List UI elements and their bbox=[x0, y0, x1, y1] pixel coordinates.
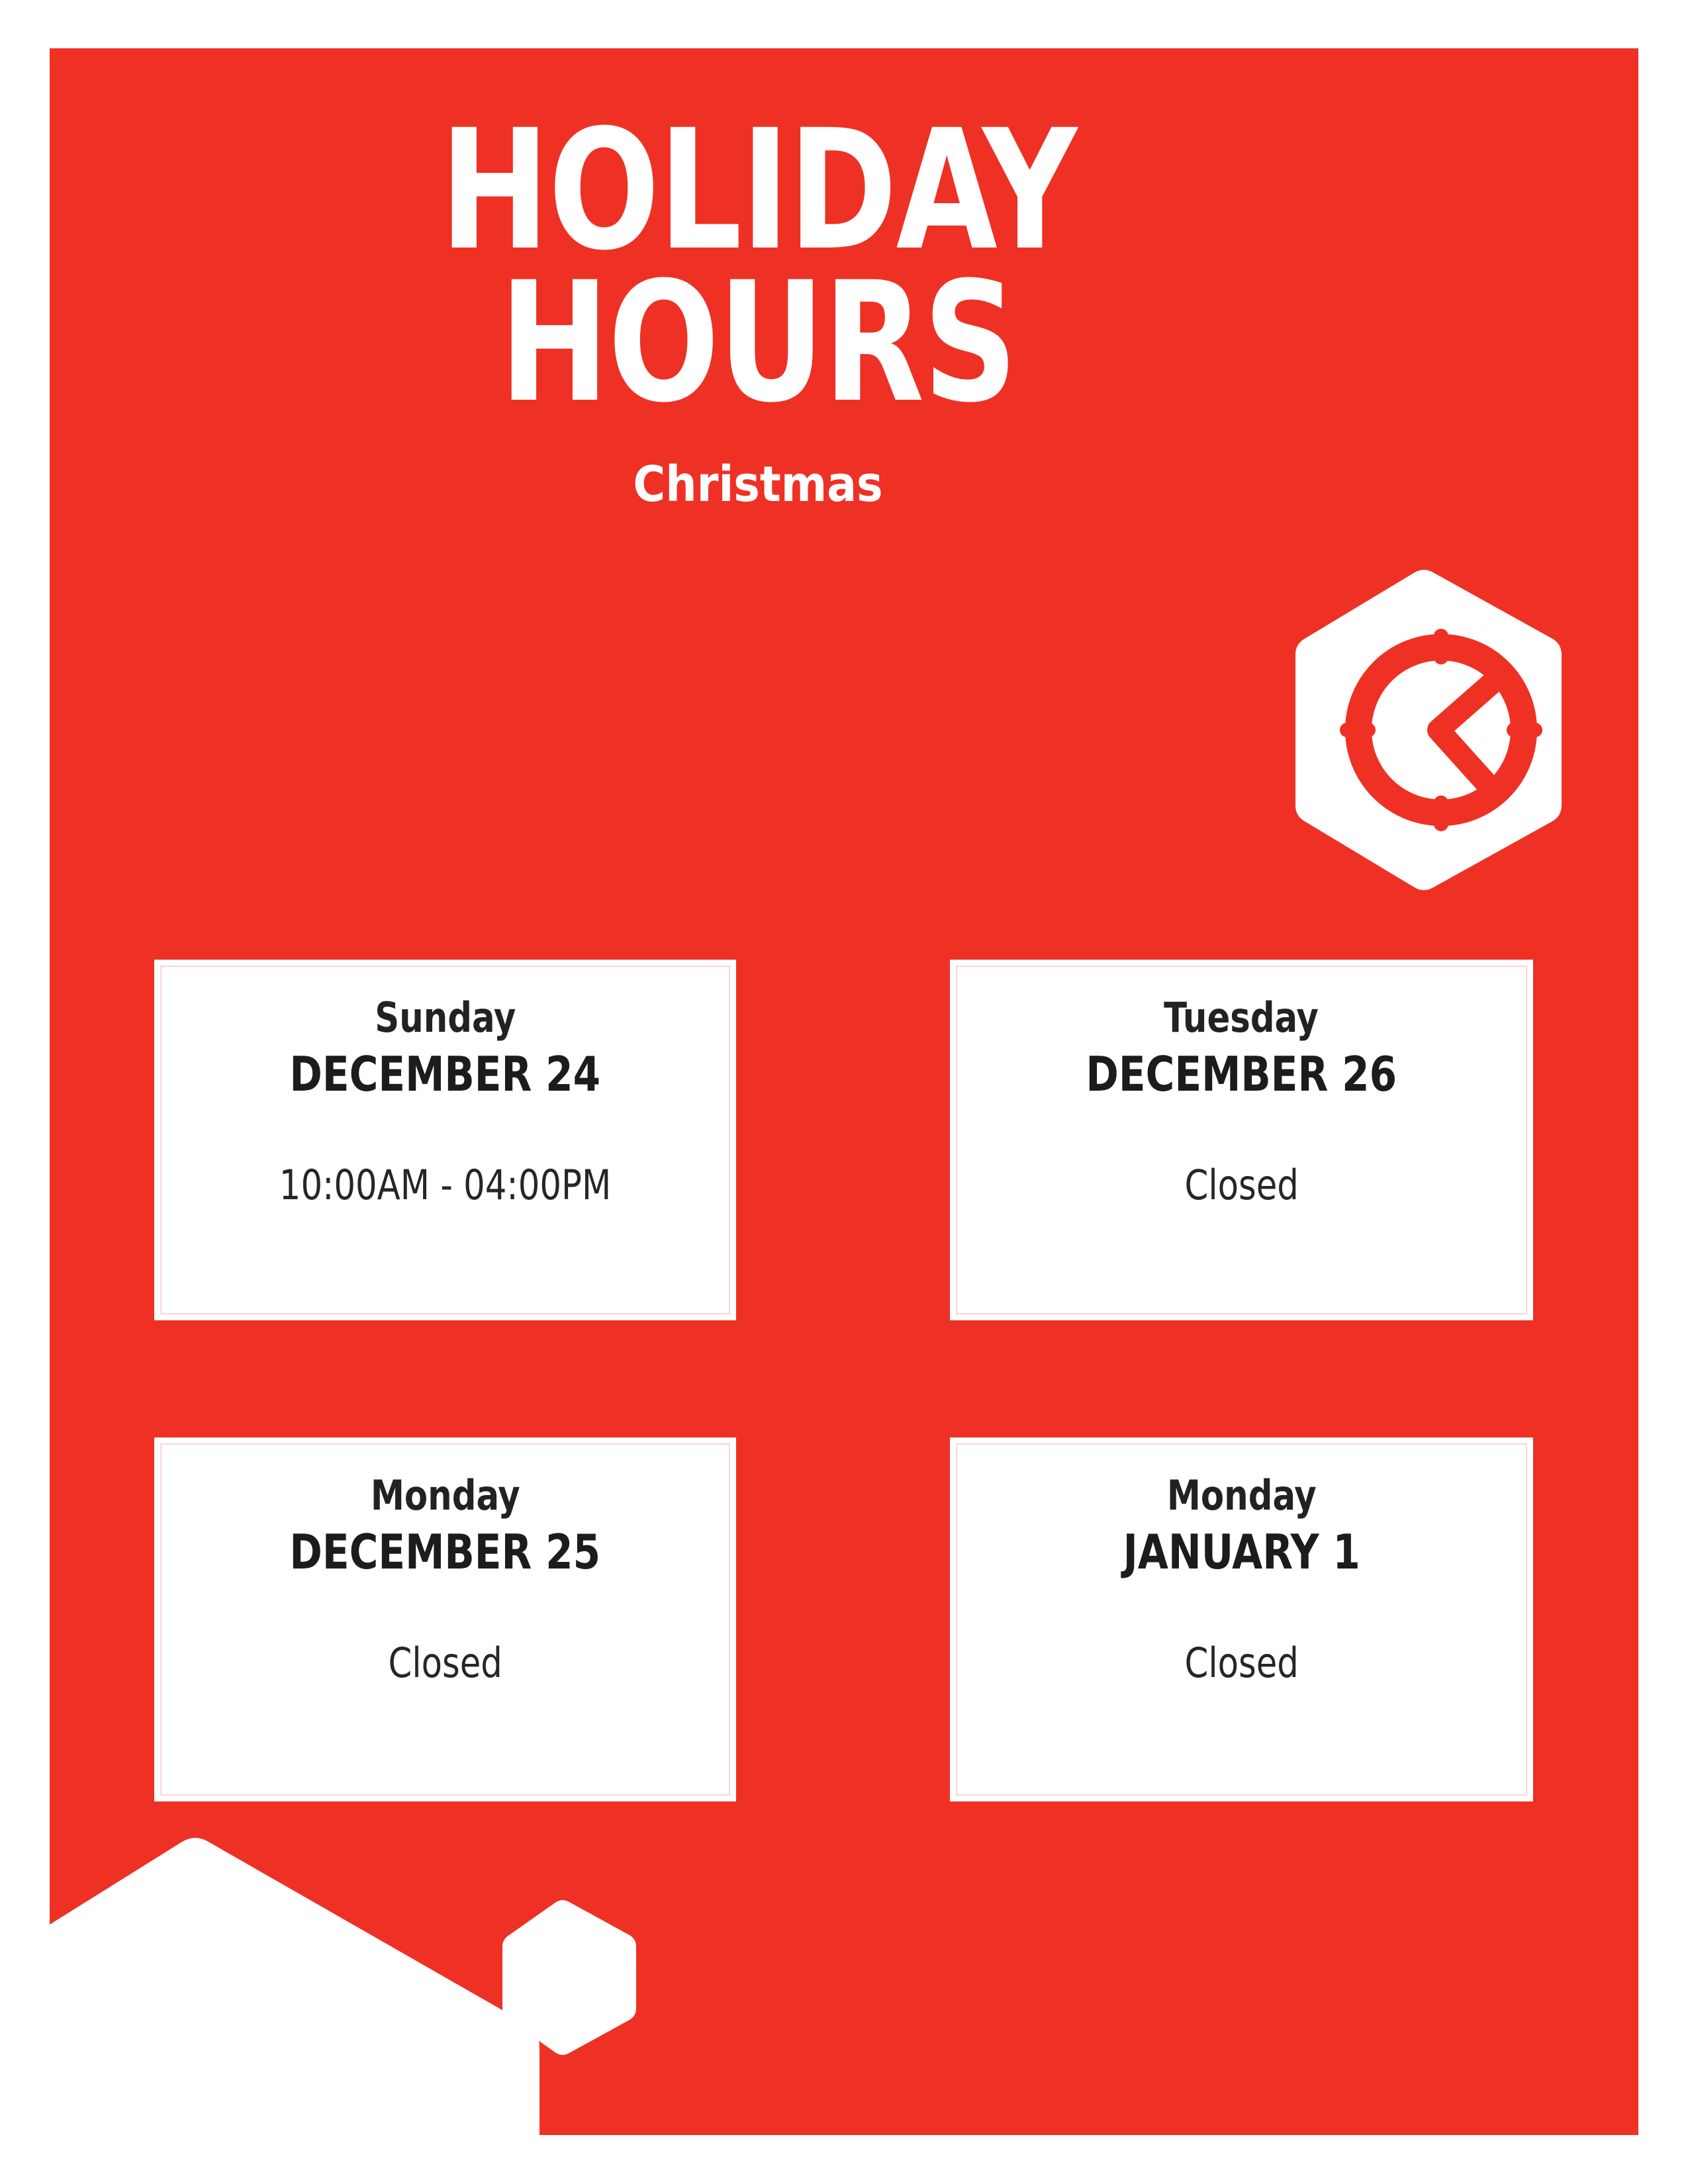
hexagon-decoration-small-icon bbox=[500, 1898, 639, 2057]
schedule-card-inner: Sunday DECEMBER 24 10:00AM - 04:00PM bbox=[160, 966, 730, 1314]
schedule-card: Tuesday DECEMBER 26 Closed bbox=[950, 960, 1533, 1320]
schedule-card: Monday JANUARY 1 Closed bbox=[950, 1437, 1533, 1801]
schedule-card-hours: Closed bbox=[388, 1641, 502, 1684]
title-block: HOLIDAY HOURS Christmas bbox=[268, 114, 1248, 509]
poster-header: HOLIDAY HOURS Christmas bbox=[50, 48, 1638, 710]
schedule-card-date: JANUARY 1 bbox=[1123, 1527, 1360, 1578]
hexagon-decoration-large-icon bbox=[50, 1829, 553, 2135]
schedule-card-date: DECEMBER 25 bbox=[290, 1527, 601, 1578]
page-subtitle: Christmas bbox=[268, 460, 1248, 509]
schedule-card: Monday DECEMBER 25 Closed bbox=[154, 1437, 736, 1801]
page-title-line-1: HOLIDAY bbox=[327, 114, 1189, 267]
schedule-card-hours: 10:00AM - 04:00PM bbox=[279, 1163, 611, 1206]
schedule-card: Sunday DECEMBER 24 10:00AM - 04:00PM bbox=[154, 960, 736, 1320]
schedule-card-inner: Monday DECEMBER 25 Closed bbox=[160, 1443, 730, 1796]
schedule-card-day: Monday bbox=[371, 1474, 520, 1517]
schedule-card-hours: Closed bbox=[1184, 1641, 1298, 1684]
schedule-card-day: Tuesday bbox=[1164, 996, 1319, 1039]
schedule-card-day: Monday bbox=[1167, 1474, 1317, 1517]
schedule-card-day: Sunday bbox=[375, 996, 516, 1039]
clock-hexagon-icon bbox=[1294, 565, 1572, 895]
page-title-line-2: HOURS bbox=[327, 267, 1189, 419]
schedule-card-inner: Monday JANUARY 1 Closed bbox=[956, 1443, 1527, 1796]
schedule-card-date: DECEMBER 24 bbox=[290, 1050, 601, 1100]
schedule-card-hours: Closed bbox=[1184, 1163, 1298, 1206]
holiday-hours-poster: HOLIDAY HOURS Christmas Sunday D bbox=[50, 48, 1638, 2135]
schedule-card-date: DECEMBER 26 bbox=[1086, 1050, 1397, 1100]
schedule-card-inner: Tuesday DECEMBER 26 Closed bbox=[956, 966, 1527, 1314]
